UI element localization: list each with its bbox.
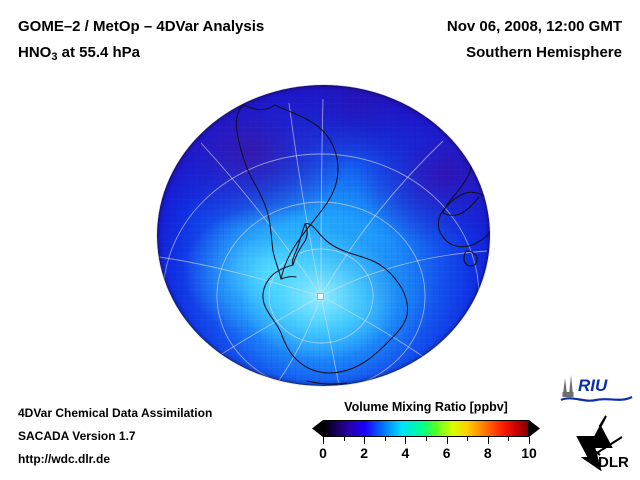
wave-icon (561, 397, 632, 401)
colorbar-title: Volume Mixing Ratio [ppbv] (312, 400, 540, 414)
colorbar-extend-low-arrow-icon (312, 420, 323, 437)
colorbar-ticks (323, 437, 529, 444)
colorbar-tick-label: 2 (360, 445, 368, 461)
colorbar-extend-high-arrow-icon (529, 420, 540, 437)
colorbar-tick-label: 8 (484, 445, 492, 461)
colorbar-tick-label: 4 (401, 445, 409, 461)
riu-wordmark: RIU (578, 376, 608, 395)
page-title: GOME–2 / MetOp – 4DVar Analysis (18, 14, 358, 40)
footer-url-link[interactable]: http://wdc.dlr.de (18, 448, 212, 471)
riu-logo: RIU (558, 372, 634, 406)
colorbar-tick (508, 437, 509, 441)
colorbar-bar-row (312, 420, 540, 437)
colorbar-tick (385, 437, 386, 441)
colorbar-tick-label: 6 (443, 445, 451, 461)
globe-limb-outline (157, 85, 490, 386)
colorbar-gradient (323, 420, 529, 437)
species-level-line: HNO3 at 55.4 hPa (18, 40, 358, 70)
dlr-wordmark: DLR (598, 454, 629, 471)
timestamp: Nov 06, 2008, 12:00 GMT (322, 14, 622, 40)
cathedral-spires-icon (563, 375, 574, 397)
footer-version-line: SACADA Version 1.7 (18, 425, 212, 448)
colorbar-tick (447, 437, 448, 444)
colorbar-tick-label: 0 (319, 445, 327, 461)
colorbar-tick (323, 437, 324, 444)
globe-disc (157, 85, 490, 386)
header-left-block: GOME–2 / MetOp – 4DVar Analysis HNO3 at … (18, 14, 358, 70)
colorbar-tick-labels: 0246810 (323, 445, 529, 463)
south-pole-marker (317, 293, 324, 300)
species-name: HNO (18, 44, 51, 61)
pressure-level: at 55.4 hPa (57, 44, 140, 61)
colorbar-tick (488, 437, 489, 444)
colorbar-tick (364, 437, 365, 444)
dlr-logo: DLR (566, 413, 636, 471)
colorbar-tick (344, 437, 345, 441)
header-right-block: Nov 06, 2008, 12:00 GMT Southern Hemisph… (322, 14, 622, 66)
colorbar-tick (467, 437, 468, 441)
footer-assimilation-line: 4DVar Chemical Data Assimilation (18, 402, 212, 425)
footer-left-block: 4DVar Chemical Data Assimilation SACADA … (18, 402, 212, 471)
region-label: Southern Hemisphere (322, 40, 622, 66)
colorbar-tick-label: 10 (521, 445, 537, 461)
colorbar: Volume Mixing Ratio [ppbv] 0246810 (312, 400, 540, 463)
colorbar-tick (405, 437, 406, 444)
colorbar-tick (529, 437, 530, 444)
polar-projection-map (157, 85, 490, 386)
colorbar-tick (426, 437, 427, 441)
